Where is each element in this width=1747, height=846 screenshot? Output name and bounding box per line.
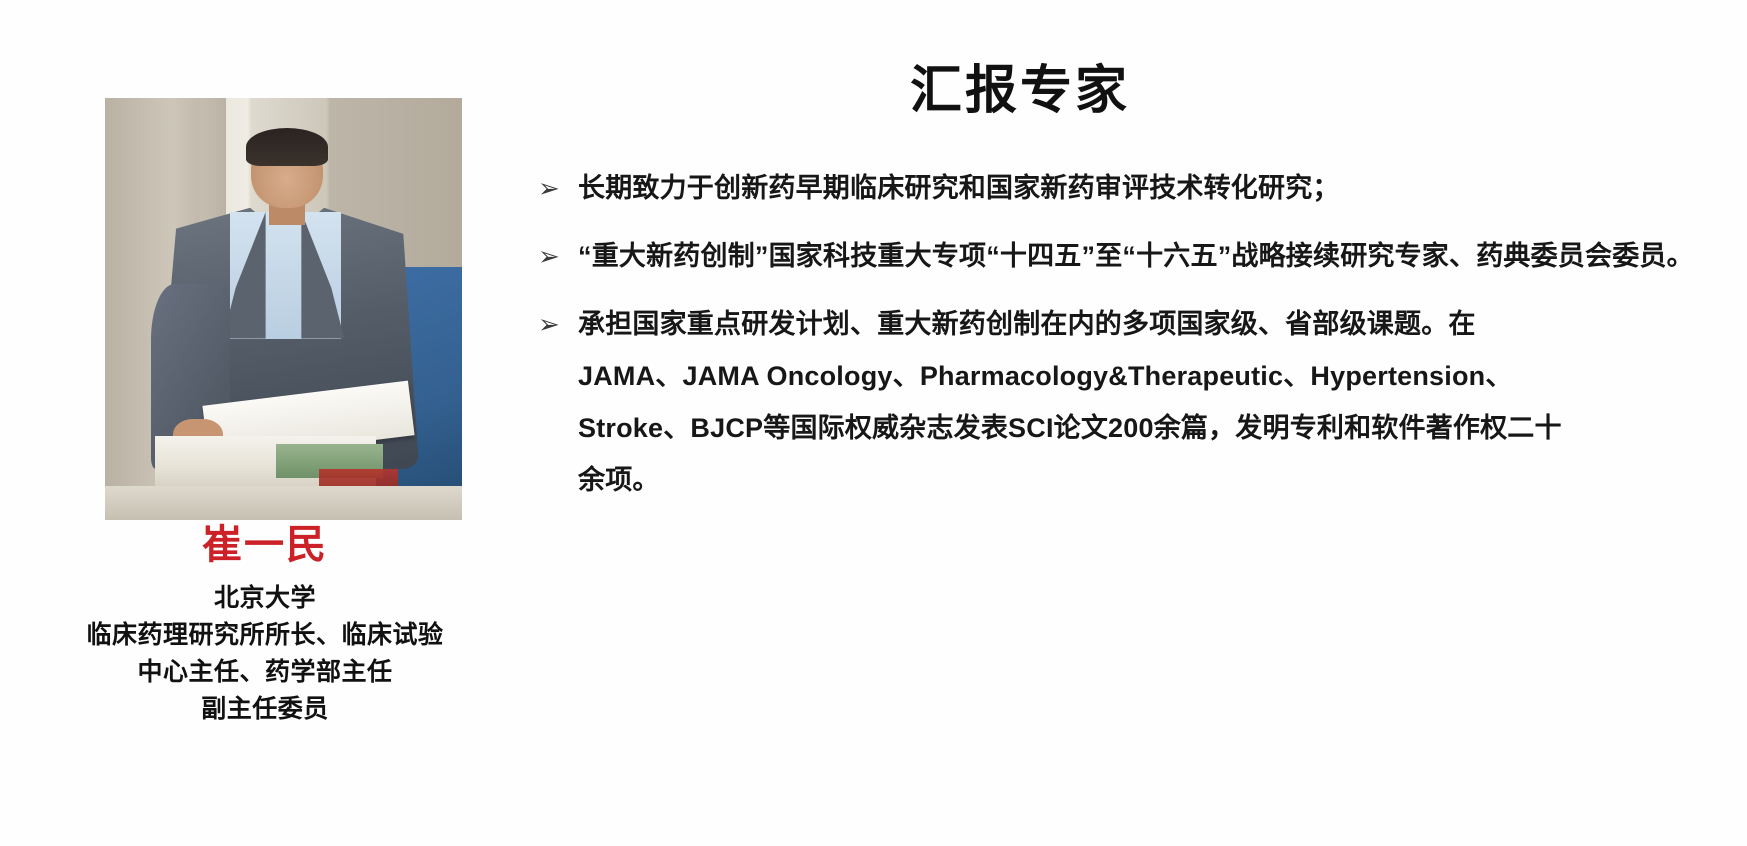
photo-hair: [246, 128, 328, 166]
bullet-item-1: ➢ 长期致力于创新药早期临床研究和国家新药审评技术转化研究；: [500, 162, 1710, 214]
affiliation-line-2: 临床药理研究所所长、临床试验: [0, 617, 530, 654]
bullet-arrow-icon: ➢: [538, 162, 560, 214]
speaker-portrait-photo: [105, 98, 462, 520]
affiliation-line-1: 北京大学: [0, 580, 530, 617]
speaker-affiliation: 北京大学 临床药理研究所所长、临床试验 中心主任、药学部主任 副主任委员: [0, 580, 530, 728]
bullet-text-2: “重大新药创制”国家科技重大专项“十四五”至“十六五”战略接续研究专家、药典委员…: [578, 230, 1710, 282]
bullet-list: ➢ 长期致力于创新药早期临床研究和国家新药审评技术转化研究； ➢ “重大新药创制…: [500, 162, 1710, 522]
bullet-arrow-icon: ➢: [538, 298, 560, 350]
speaker-name: 崔一民: [0, 512, 530, 570]
bullet-item-3: ➢ 承担国家重点研发计划、重大新药创制在内的多项国家级、省部级课题。在JAMA、…: [500, 298, 1710, 506]
affiliation-line-3: 中心主任、药学部主任: [0, 654, 530, 691]
bullet-arrow-icon: ➢: [538, 230, 560, 282]
content-panel: 汇报专家 ➢ 长期致力于创新药早期临床研究和国家新药审评技术转化研究； ➢ “重…: [530, 0, 1747, 846]
page-title: 汇报专家: [850, 48, 1190, 123]
bullet-text-3: 承担国家重点研发计划、重大新药创制在内的多项国家级、省部级课题。在JAMA、JA…: [578, 298, 1578, 506]
affiliation-line-4: 副主任委员: [0, 691, 530, 728]
speaker-profile-panel: 崔一民 北京大学 临床药理研究所所长、临床试验 中心主任、药学部主任 副主任委员: [0, 0, 530, 846]
bullet-text-1: 长期致力于创新药早期临床研究和国家新药审评技术转化研究；: [578, 162, 1710, 214]
slide-canvas: 崔一民 北京大学 临床药理研究所所长、临床试验 中心主任、药学部主任 副主任委员…: [0, 0, 1747, 846]
bullet-item-2: ➢ “重大新药创制”国家科技重大专项“十四五”至“十六五”战略接续研究专家、药典…: [500, 230, 1710, 282]
